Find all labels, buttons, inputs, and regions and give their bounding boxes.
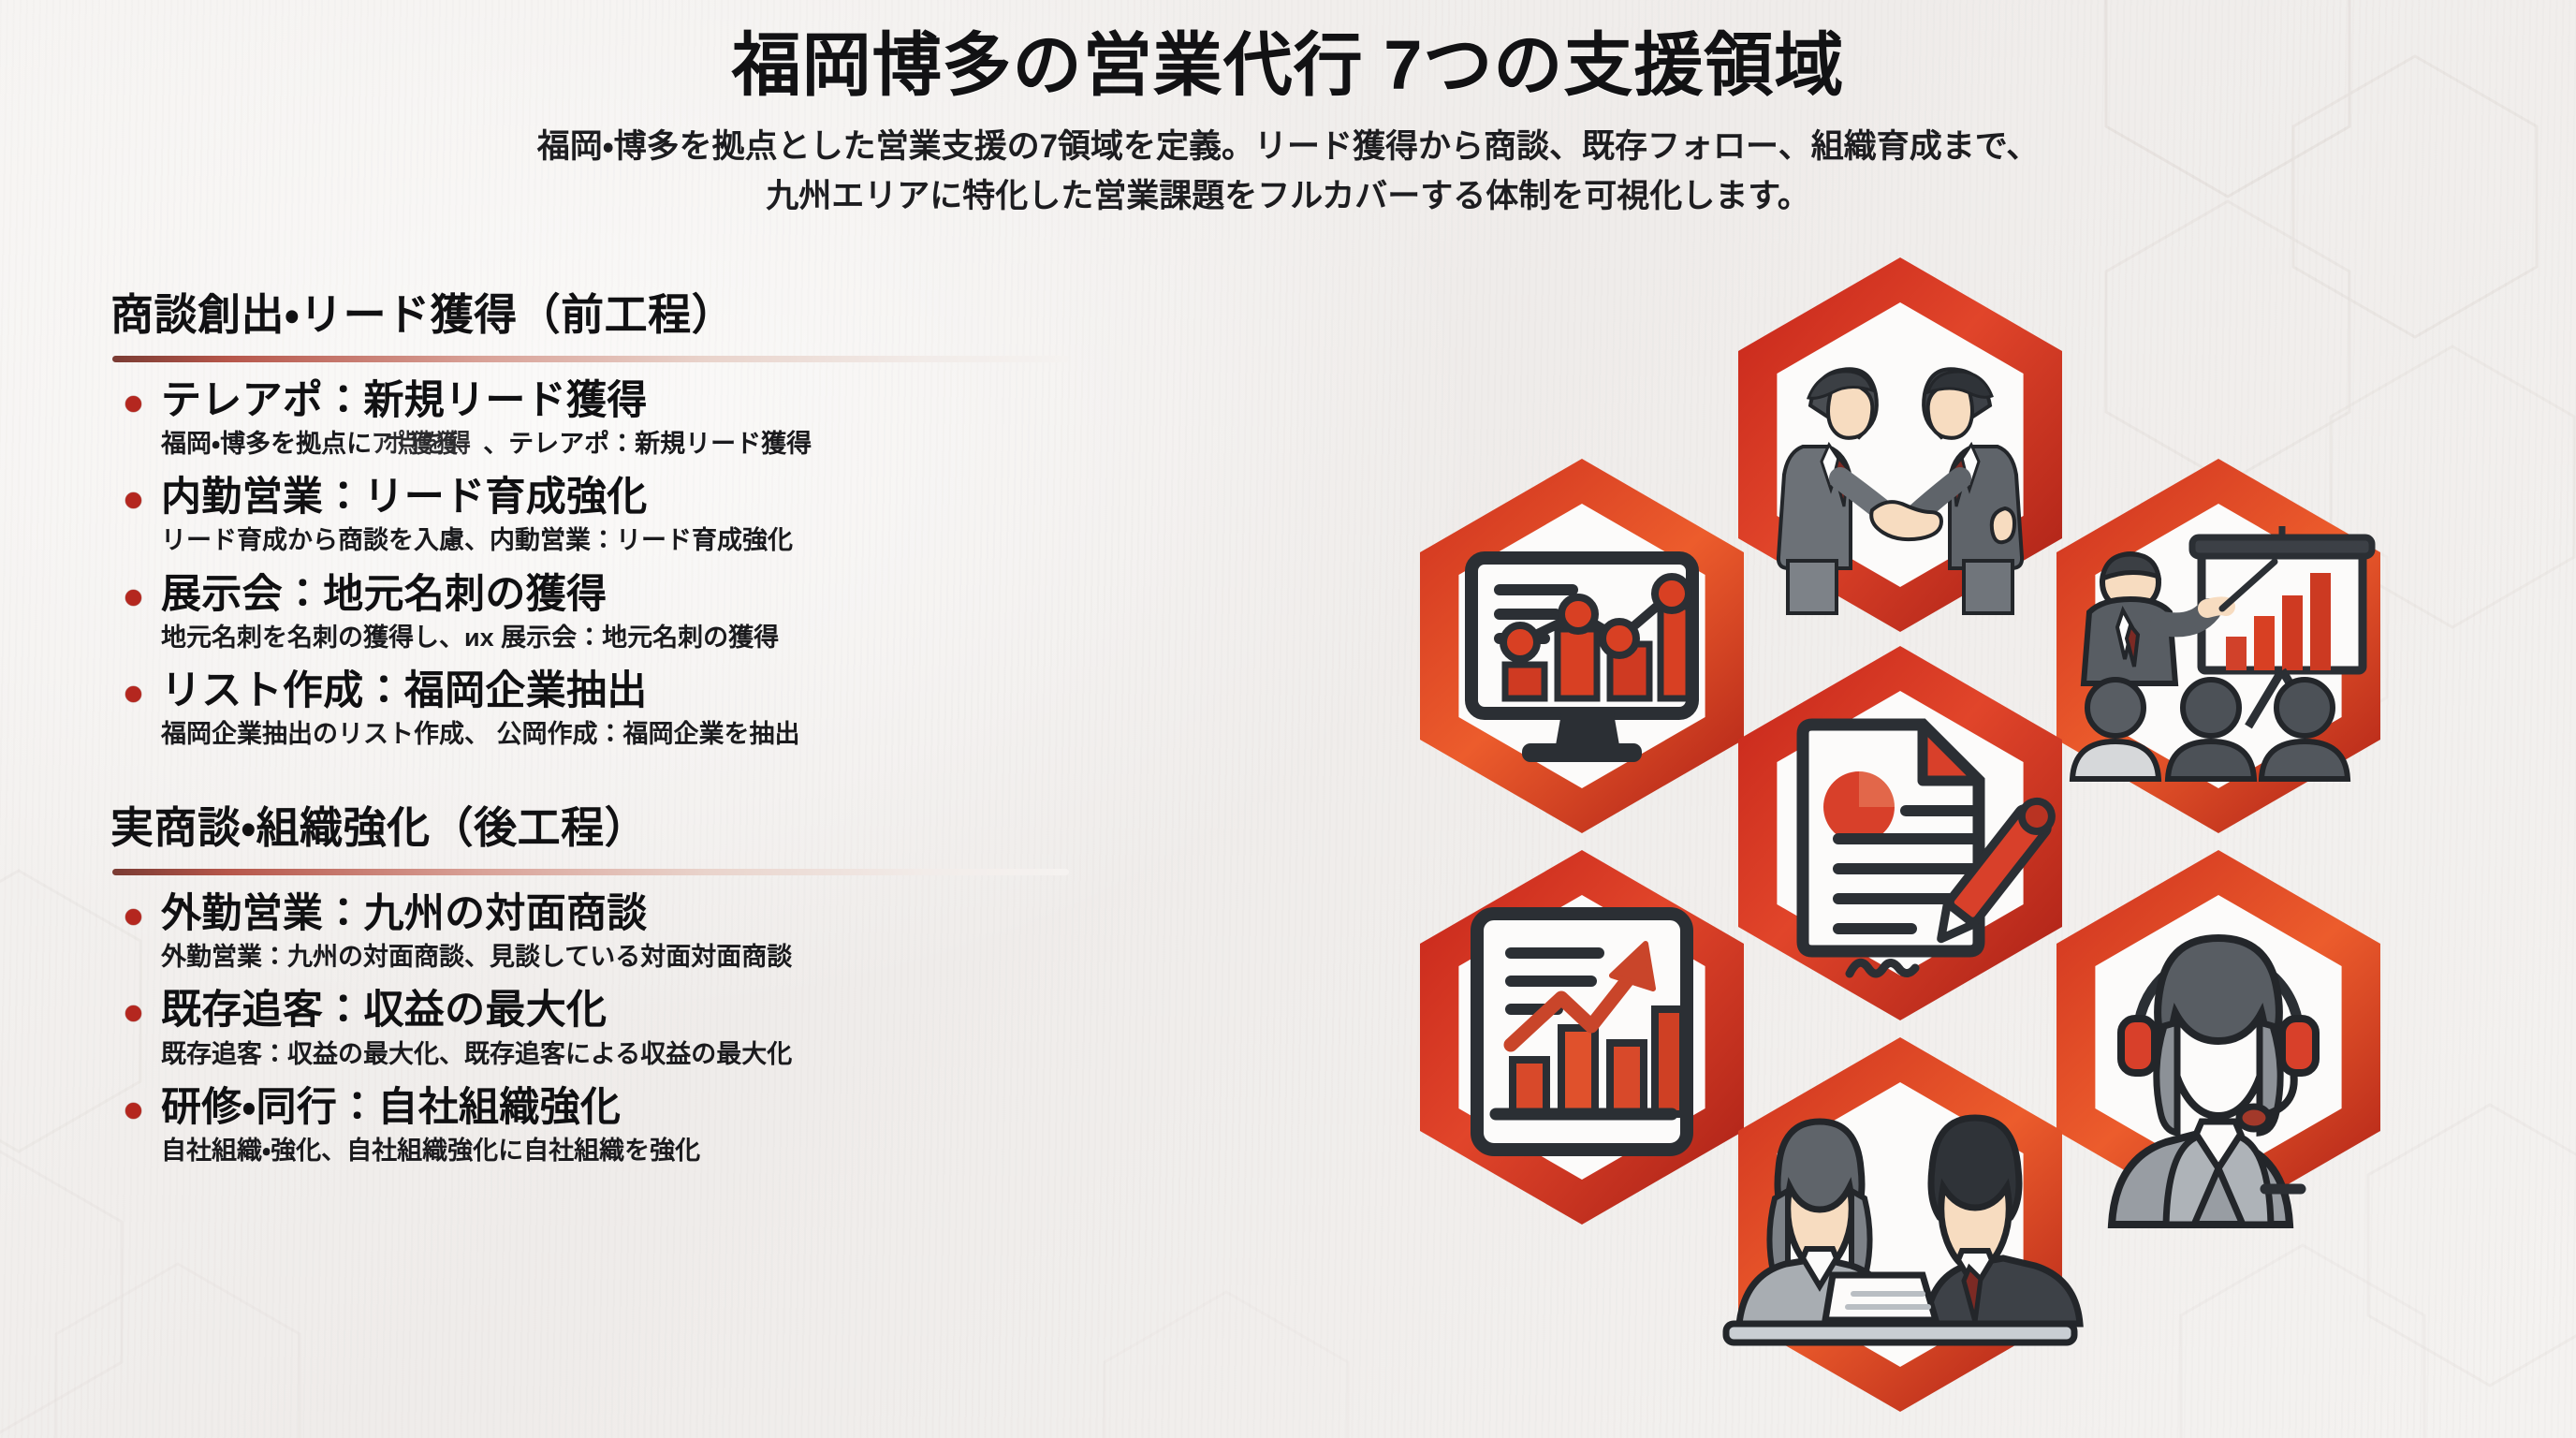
item-title: 研修・同行：自社組織強化 xyxy=(161,1082,1159,1133)
hexagon-cluster-svg xyxy=(1292,253,2509,1414)
item-title: 外勤営業：九州の対面商談 xyxy=(161,888,1159,939)
hexagon-meeting[interactable] xyxy=(1726,1037,2080,1412)
bullet-dot-icon xyxy=(125,686,141,702)
desc-garbled-text: アポ点獲を獲得 xyxy=(372,428,463,461)
list-item[interactable]: 外勤営業：九州の対面商談 外勤営業：九州の対面商談、見談している対面対面商談 xyxy=(110,888,1159,974)
item-description: リード育成から商談を入慮、内動営業：リード育成強化 xyxy=(161,524,1159,557)
subtitle-line-1: 福岡・博多を拠点とした営業支援の7領域を定義。リード獲得から商談、既存フォロー、… xyxy=(324,123,2252,172)
list-item[interactable]: 研修・同行：自社組織強化 自社組織・強化、自社組織強化に自社組織を強化 xyxy=(110,1082,1159,1167)
bullet-dot-icon xyxy=(125,590,141,606)
item-description: 地元名刺を名刺の獲得し、их 展示会：地元名刺の獲得 xyxy=(161,622,1159,654)
item-title: 展示会：地元名刺の獲得 xyxy=(161,569,1159,620)
support-areas-list: 商談創出・リード獲得（前工程） テレアポ：新規リード獲得 福岡・博多を拠点にアポ… xyxy=(110,281,1159,1194)
item-description: 福岡・博多を拠点にアポ点獲を獲得、テレアポ：新規リード獲得 xyxy=(161,428,1159,461)
item-description: 外勤営業：九州の対面商談、見談している対面対面商談 xyxy=(161,941,1159,974)
hexagon-analytics[interactable] xyxy=(1420,459,1744,833)
list-item[interactable]: リスト作成：福岡企業抽出 福岡企業抽出のリスト作成、 公岡作成：福岡企業を抽出 xyxy=(110,666,1159,751)
item-description: 福岡企業抽出のリスト作成、 公岡作成：福岡企業を抽出 xyxy=(161,718,1159,751)
page-title: 福岡博多の営業代行 7つの支援領域 xyxy=(0,24,2576,106)
hexagon-presentation[interactable] xyxy=(2056,459,2380,833)
header: 福岡博多の営業代行 7つの支援領域 福岡・博多を拠点とした営業支援の7領域を定義… xyxy=(0,0,2576,221)
hexagon-cluster xyxy=(1292,253,2509,1414)
section-heading: 実商談・組織強化（後工程） xyxy=(110,794,1159,863)
item-title: テレアポ：新規リード獲得 xyxy=(161,375,1159,426)
list-item[interactable]: 内勤営業：リード育成強化 リード育成から商談を入慮、内動営業：リード育成強化 xyxy=(110,472,1159,557)
bullet-dot-icon xyxy=(125,396,141,412)
item-title: 内勤営業：リード育成強化 xyxy=(161,472,1159,522)
bullet-dot-icon xyxy=(125,492,141,508)
bullet-dot-icon xyxy=(125,909,141,925)
item-title: 既存追客：収益の最大化 xyxy=(161,985,1159,1035)
bullet-dot-icon xyxy=(125,1005,141,1021)
desc-after: 、テレアポ：新規リード獲得 xyxy=(483,430,812,458)
item-description: 自社組織・強化、自社組織強化に自社組織を強化 xyxy=(161,1135,1159,1167)
growth-report-arrow-icon xyxy=(1477,914,1687,1150)
hexagon-handshake[interactable] xyxy=(1738,257,2062,632)
section-divider xyxy=(112,869,1069,875)
bullet-dot-icon xyxy=(125,1103,141,1119)
section-heading: 商談創出・リード獲得（前工程） xyxy=(110,281,1159,350)
desc-before: 福岡・博多を拠点に xyxy=(161,430,372,458)
hexagon-growth[interactable] xyxy=(1420,850,1744,1225)
hexagon-headset[interactable] xyxy=(2056,850,2380,1225)
item-title: リスト作成：福岡企業抽出 xyxy=(161,666,1159,716)
item-description: 既存追客：収益の最大化、既存追客による収益の最大化 xyxy=(161,1038,1159,1071)
section-post-process: 実商談・組織強化（後工程） 外勤営業：九州の対面商談 外勤営業：九州の対面商談、… xyxy=(110,794,1159,1167)
list-item[interactable]: 既存追客：収益の最大化 既存追客：収益の最大化、既存追客による収益の最大化 xyxy=(110,985,1159,1070)
page-subtitle: 福岡・博多を拠点とした営業支援の7領域を定義。リード獲得から商談、既存フォロー、… xyxy=(324,123,2252,221)
list-item[interactable]: 展示会：地元名刺の獲得 地元名刺を名刺の獲得し、их 展示会：地元名刺の獲得 xyxy=(110,569,1159,654)
section-divider xyxy=(112,356,1069,362)
hexagon-contract[interactable] xyxy=(1738,646,2062,1020)
subtitle-line-2: 九州エリアに特化した営業課題をフルカバーする体制を可視化します。 xyxy=(324,172,2252,222)
section-pre-process: 商談創出・リード獲得（前工程） テレアポ：新規リード獲得 福岡・博多を拠点にアポ… xyxy=(110,281,1159,751)
list-item[interactable]: テレアポ：新規リード獲得 福岡・博多を拠点にアポ点獲を獲得、テレアポ：新規リード… xyxy=(110,375,1159,461)
